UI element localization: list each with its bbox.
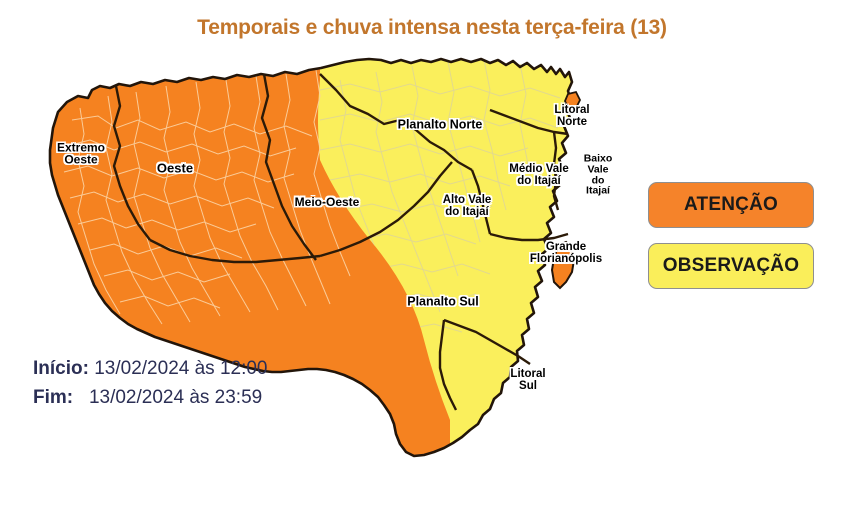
legend-item-aten-o[interactable]: ATENÇÃO — [648, 182, 814, 228]
sao-francisco-island — [565, 92, 580, 108]
alert-start-row: Início: 13/02/2024 às 12:00 — [33, 355, 268, 384]
alert-end-row: Fim: 13/02/2024 às 23:59 — [33, 384, 268, 413]
alert-end-value: 13/02/2024 às 23:59 — [73, 387, 262, 408]
alert-start-value: 13/02/2024 às 12:00 — [89, 358, 268, 379]
weather-alert-map: Extremo OesteOesteMeio-OestePlanalto Nor… — [20, 50, 630, 480]
alert-end-label: Fim: — [33, 387, 73, 408]
legend: ATENÇÃOOBSERVAÇÃO — [648, 182, 814, 304]
page-title: Temporais e chuva intensa nesta terça-fe… — [0, 16, 864, 40]
alert-start-label: Início: — [33, 358, 89, 379]
legend-item-observa-o[interactable]: OBSERVAÇÃO — [648, 243, 814, 289]
santa-catarina-map-svg — [20, 50, 630, 480]
florianopolis-island — [552, 242, 574, 288]
alert-timing: Início: 13/02/2024 às 12:00 Fim: 13/02/2… — [33, 355, 268, 413]
